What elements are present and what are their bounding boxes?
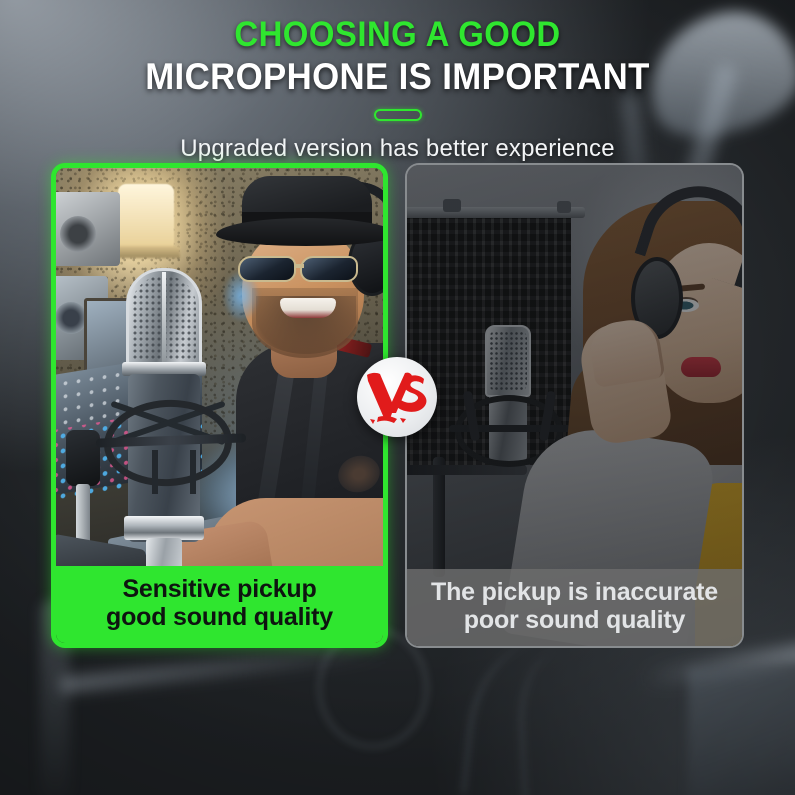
good-caption: Sensitive pickup good sound quality	[56, 566, 383, 643]
sunglasses-left-lens	[238, 256, 296, 282]
vs-badge	[357, 357, 437, 437]
good-caption-line2: good sound quality	[62, 603, 377, 631]
photo-hat-brim	[216, 218, 383, 246]
sunglasses-right-lens	[300, 256, 358, 282]
bad-caption: The pickup is inaccurate poor sound qual…	[407, 569, 742, 646]
speaker-cone-icon	[56, 302, 87, 334]
page-title-line1: CHOOSING A GOOD	[24, 16, 771, 54]
comparison-panel-good[interactable]: Sensitive pickup good sound quality	[51, 163, 388, 648]
speaker-cone-icon	[60, 216, 96, 252]
header: CHOOSING A GOOD MICROPHONE IS IMPORTANT …	[0, 0, 795, 163]
photo-studio-monitor-1	[56, 192, 120, 266]
photo-sunglasses	[238, 254, 373, 284]
photo-mic-head-divider	[162, 272, 166, 366]
promo-banner: CHOOSING A GOOD MICROPHONE IS IMPORTANT …	[0, 0, 795, 795]
comparison-panel-bad[interactable]: The pickup is inaccurate poor sound qual…	[405, 163, 744, 648]
title-divider	[0, 108, 795, 122]
page-subtitle: Upgraded version has better experience	[0, 135, 795, 163]
green-pill-divider-icon	[374, 109, 422, 121]
photo-lamp-fringe	[112, 246, 180, 258]
sunglasses-bridge	[294, 264, 304, 268]
photo-mount-knob	[66, 430, 100, 486]
page-title-line2: MICROPHONE IS IMPORTANT	[24, 57, 771, 97]
good-caption-line1: Sensitive pickup	[122, 575, 316, 603]
vs-red-brush-icon	[364, 369, 430, 425]
photo-shockmount-yoke	[152, 450, 196, 494]
photo-mic-lower-ring	[124, 516, 204, 540]
bad-caption-line2: poor sound quality	[413, 606, 736, 634]
bad-caption-line1: The pickup is inaccurate	[431, 578, 718, 606]
photo-lamp	[118, 184, 174, 250]
photo-man-smile	[280, 298, 336, 318]
